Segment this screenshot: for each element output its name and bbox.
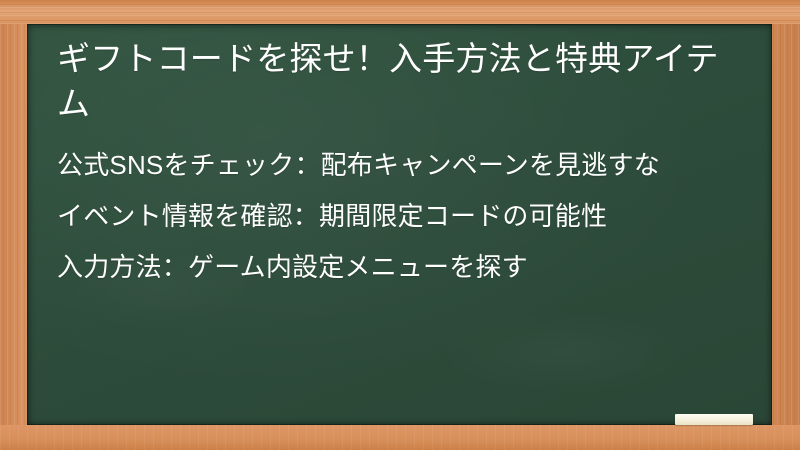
bullet-list: 公式SNSをチェック：配布キャンペーンを見逃すな イベント情報を確認：期間限定コ… xyxy=(57,142,741,295)
chalkboard-content: ギフトコードを探せ！入手方法と特典アイテム 公式SNSをチェック：配布キャンペー… xyxy=(27,24,772,425)
wooden-frame-top-rail xyxy=(0,0,800,24)
bullet-item-1: 公式SNSをチェック：配布キャンペーンを見逃すな xyxy=(57,142,741,189)
chalkboard-surface: ギフトコードを探せ！入手方法と特典アイテム 公式SNSをチェック：配布キャンペー… xyxy=(27,24,772,425)
chalk-stick xyxy=(675,414,753,425)
slide-title: ギフトコードを探せ！入手方法と特典アイテム xyxy=(57,36,747,126)
bullet-item-3: 入力方法：ゲーム内設定メニューを探す xyxy=(57,244,741,291)
bullet-item-2: イベント情報を確認：期間限定コードの可能性 xyxy=(57,193,741,240)
chalkboard-ledge xyxy=(0,425,800,450)
chalkboard-slide: ギフトコードを探せ！入手方法と特典アイテム 公式SNSをチェック：配布キャンペー… xyxy=(0,0,800,450)
